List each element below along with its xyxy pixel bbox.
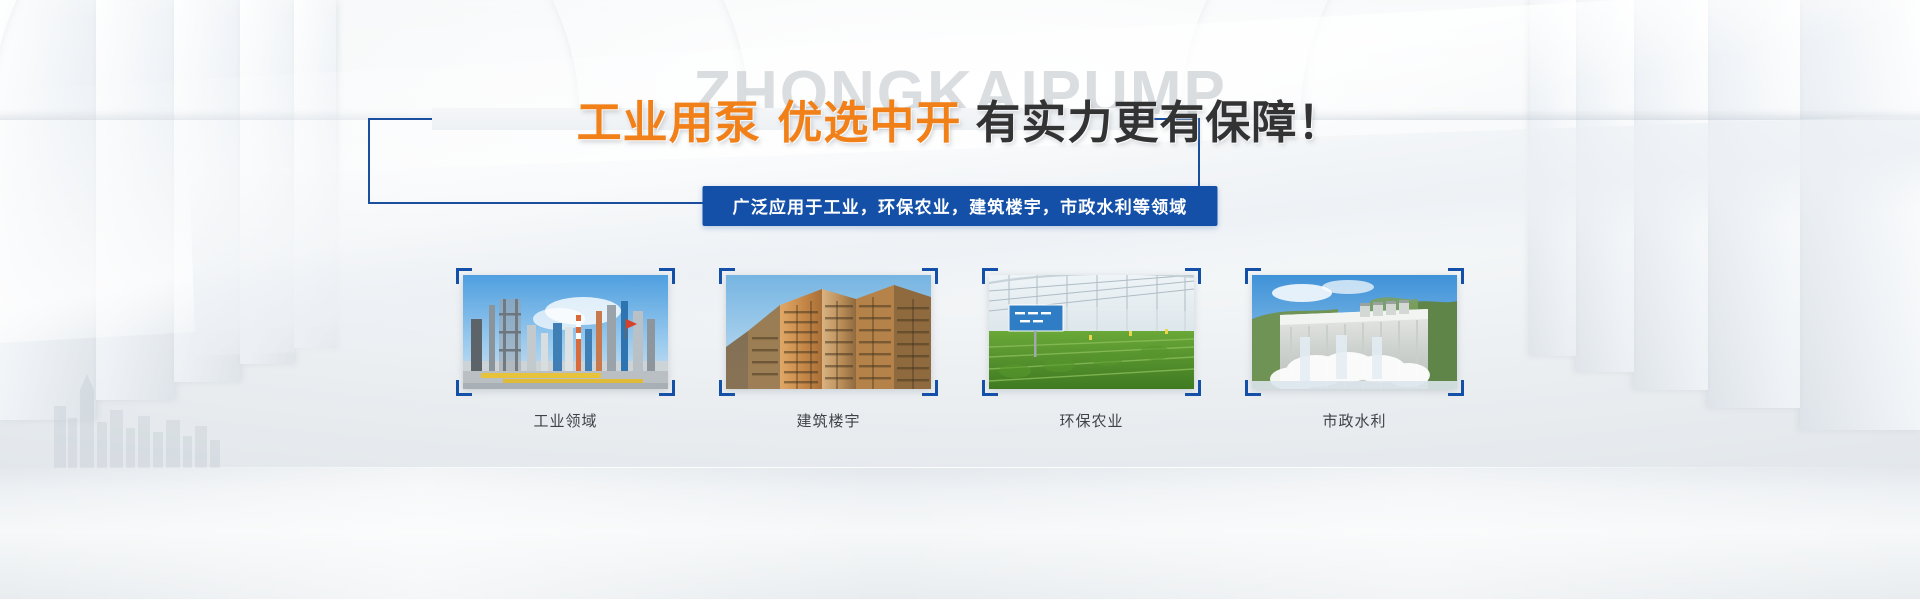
application-card-list: 工业领域 <box>456 268 1464 431</box>
application-card-caption: 工业领域 <box>456 410 675 431</box>
greenhouse-agriculture-photo <box>989 275 1194 389</box>
application-card[interactable]: 建筑楼宇 <box>719 268 938 431</box>
application-card[interactable]: 市政水利 <box>1245 268 1464 431</box>
industrial-plant-photo <box>463 275 668 389</box>
subtitle-bar: 广泛应用于工业，环保农业，建筑楼宇，市政水利等领域 <box>703 186 1218 226</box>
application-card-caption: 环保农业 <box>982 410 1201 431</box>
headline-highlight: 工业用泵 优选中开 <box>577 96 962 149</box>
thumbnail-frame <box>719 268 938 396</box>
application-card[interactable]: 工业领域 <box>456 268 675 431</box>
high-rise-buildings-photo <box>726 275 931 389</box>
application-card-caption: 市政水利 <box>1245 410 1464 431</box>
application-card-caption: 建筑楼宇 <box>719 410 938 431</box>
thumbnail-frame <box>982 268 1201 396</box>
headline-rest: 有实力更有保障！ <box>975 96 1343 149</box>
headline: 工业用泵 优选中开有实力更有保障！ <box>0 100 1920 145</box>
thumbnail-frame <box>456 268 675 396</box>
application-card[interactable]: 环保农业 <box>982 268 1201 431</box>
skyline-silhouette <box>40 360 240 470</box>
dam-water-conservancy-photo <box>1252 275 1457 389</box>
thumbnail-frame <box>1245 268 1464 396</box>
hero-banner: ZHONGKAIPUMP 工业用泵 优选中开有实力更有保障！ 广泛应用于工业，环… <box>0 0 1920 600</box>
